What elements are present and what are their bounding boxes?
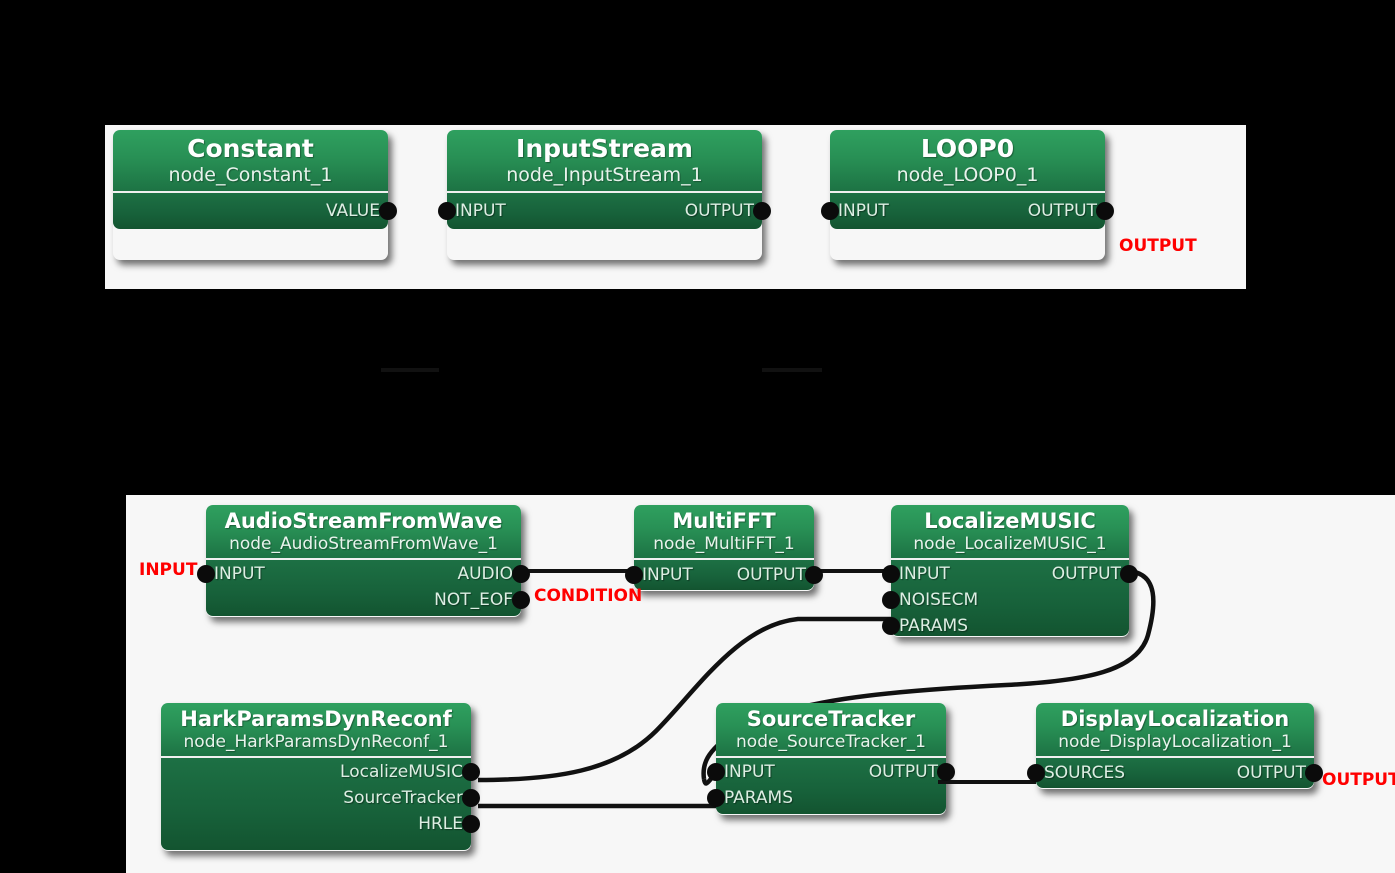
terminal-label-main-output[interactable]: OUTPUT (1119, 238, 1197, 255)
node-audiostreamfromwave[interactable]: AudioStreamFromWave node_AudioStreamFrom… (206, 505, 521, 617)
node-localizemusic-title: LocalizeMUSIC (900, 509, 1120, 534)
node-sourcetracker-header: SourceTracker node_SourceTracker_1 (716, 703, 946, 758)
node-inputstream-subtitle: node_InputStream_1 (456, 163, 753, 188)
node-constant-header: Constant node_Constant_1 (113, 130, 388, 193)
port-label-hpdr-localizemusic: LocalizeMUSIC (340, 759, 463, 785)
wire-sourcetracker-to-displaylocalization (938, 780, 1036, 784)
node-loop0-subtitle: node_LOOP0_1 (839, 163, 1096, 188)
node-loop0-header: LOOP0 node_LOOP0_1 (830, 130, 1105, 193)
port-row-displaylocalization-io: SOURCES OUTPUT (1036, 760, 1314, 786)
node-constant-subtitle: node_Constant_1 (122, 163, 379, 188)
node-sourcetracker[interactable]: SourceTracker node_SourceTracker_1 INPUT… (716, 703, 946, 815)
node-audiostreamfromwave-subtitle: node_AudioStreamFromWave_1 (215, 534, 512, 555)
port-row-asfw-input-audio: INPUT AUDIO (206, 561, 521, 587)
node-multifft-header: MultiFFT node_MultiFFT_1 (634, 505, 814, 560)
port-label-localizemusic-output: OUTPUT (1052, 561, 1121, 587)
network-editor-canvas: Constant node_Constant_1 VALUE InputStre… (0, 0, 1395, 873)
node-localizemusic-body: INPUT OUTPUT NOISECM PARAMS (891, 560, 1129, 636)
node-multifft-body: INPUT OUTPUT (634, 560, 814, 590)
node-displaylocalization[interactable]: DisplayLocalization node_DisplayLocaliza… (1036, 703, 1314, 789)
port-row-loop0-io: INPUT OUTPUT (830, 198, 1105, 224)
port-dot-asfw-audio[interactable] (512, 565, 530, 583)
node-harkparamsdynreconf-title: HarkParamsDynReconf (170, 707, 462, 732)
node-audiostreamfromwave-body: INPUT AUDIO NOT_EOF (206, 560, 521, 616)
node-harkparamsdynreconf-header: HarkParamsDynReconf node_HarkParamsDynRe… (161, 703, 471, 758)
port-dot-sourcetracker-input[interactable] (707, 763, 725, 781)
port-dot-hpdr-localizemusic[interactable] (462, 763, 480, 781)
port-dot-displaylocalization-sources[interactable] (1027, 764, 1045, 782)
node-audiostreamfromwave-header: AudioStreamFromWave node_AudioStreamFrom… (206, 505, 521, 560)
port-dot-localizemusic-params[interactable] (882, 617, 900, 635)
node-audiostreamfromwave-title: AudioStreamFromWave (215, 509, 512, 534)
port-dot-hpdr-hrle[interactable] (462, 815, 480, 833)
node-harkparamsdynreconf[interactable]: HarkParamsDynReconf node_HarkParamsDynRe… (161, 703, 471, 851)
port-label-sourcetracker-input: INPUT (724, 759, 775, 785)
port-row-constant-value: VALUE (113, 198, 388, 224)
port-dot-multifft-input[interactable] (625, 566, 643, 584)
port-row-localizemusic-params: PARAMS (891, 613, 1129, 639)
port-label-hpdr-sourcetracker: SourceTracker (343, 785, 463, 811)
port-label-displaylocalization-output: OUTPUT (1237, 760, 1306, 786)
node-displaylocalization-header: DisplayLocalization node_DisplayLocaliza… (1036, 703, 1314, 758)
node-localizemusic-subtitle: node_LocalizeMUSIC_1 (900, 534, 1120, 555)
port-dot-asfw-not-eof[interactable] (512, 591, 530, 609)
port-dot-multifft-output[interactable] (805, 566, 823, 584)
port-label-asfw-audio: AUDIO (457, 561, 513, 587)
main-network-panel[interactable]: Constant node_Constant_1 VALUE InputStre… (105, 125, 1246, 289)
node-displaylocalization-title: DisplayLocalization (1045, 707, 1305, 732)
port-dot-inputstream-input[interactable] (438, 202, 456, 220)
port-label-loop0-output: OUTPUT (1028, 198, 1097, 224)
port-dot-asfw-input[interactable] (197, 565, 215, 583)
node-sourcetracker-subtitle: node_SourceTracker_1 (725, 732, 937, 753)
port-dot-localizemusic-output[interactable] (1120, 565, 1138, 583)
loop0-network-panel[interactable]: AudioStreamFromWave node_AudioStreamFrom… (126, 495, 1395, 873)
port-dot-loop0-input[interactable] (821, 202, 839, 220)
node-sourcetracker-title: SourceTracker (725, 707, 937, 732)
wire-asfw-to-multifft (515, 569, 635, 573)
terminal-label-loop-input[interactable]: INPUT (139, 562, 197, 579)
port-label-inputstream-output: OUTPUT (685, 198, 754, 224)
port-label-asfw-not-eof: NOT_EOF (434, 587, 513, 613)
node-inputstream[interactable]: InputStream node_InputStream_1 INPUT OUT… (447, 130, 762, 260)
port-dot-constant-value[interactable] (379, 202, 397, 220)
port-label-displaylocalization-sources: SOURCES (1044, 760, 1125, 786)
port-dot-displaylocalization-output[interactable] (1305, 764, 1323, 782)
wire-constant-to-inputstream (381, 368, 439, 372)
node-constant[interactable]: Constant node_Constant_1 VALUE (113, 130, 388, 260)
port-label-multifft-input: INPUT (642, 562, 693, 588)
node-multifft-subtitle: node_MultiFFT_1 (643, 534, 805, 555)
port-label-localizemusic-noisecm: NOISECM (899, 587, 978, 613)
port-row-multifft-io: INPUT OUTPUT (634, 562, 814, 588)
terminal-label-loop-output[interactable]: OUTPUT (1322, 772, 1395, 789)
port-dot-hpdr-sourcetracker[interactable] (462, 789, 480, 807)
port-dot-sourcetracker-output[interactable] (937, 763, 955, 781)
node-harkparamsdynreconf-subtitle: node_HarkParamsDynReconf_1 (170, 732, 462, 753)
node-localizemusic[interactable]: LocalizeMUSIC node_LocalizeMUSIC_1 INPUT… (891, 505, 1129, 637)
port-dot-localizemusic-noisecm[interactable] (882, 591, 900, 609)
port-label-loop0-input: INPUT (838, 198, 889, 224)
node-inputstream-body: INPUT OUTPUT (447, 193, 762, 229)
terminal-label-loop-condition[interactable]: CONDITION (534, 588, 642, 605)
node-multifft[interactable]: MultiFFT node_MultiFFT_1 INPUT OUTPUT (634, 505, 814, 591)
port-row-sourcetracker-params: PARAMS (716, 785, 946, 811)
node-displaylocalization-body: SOURCES OUTPUT (1036, 758, 1314, 788)
port-dot-sourcetracker-params[interactable] (707, 789, 725, 807)
port-label-multifft-output: OUTPUT (737, 562, 806, 588)
node-sourcetracker-body: INPUT OUTPUT PARAMS (716, 758, 946, 814)
port-label-hpdr-hrle: HRLE (418, 811, 463, 837)
node-loop0-body: INPUT OUTPUT (830, 193, 1105, 229)
node-loop0-title: LOOP0 (839, 134, 1096, 163)
node-harkparamsdynreconf-body: LocalizeMUSIC SourceTracker HRLE (161, 758, 471, 850)
node-loop0[interactable]: LOOP0 node_LOOP0_1 INPUT OUTPUT (830, 130, 1105, 260)
node-multifft-title: MultiFFT (643, 509, 805, 534)
port-label-sourcetracker-params: PARAMS (724, 785, 793, 811)
wire-inputstream-to-loop0 (762, 368, 822, 372)
port-row-hpdr-localizemusic: LocalizeMUSIC (161, 759, 471, 785)
port-dot-inputstream-output[interactable] (753, 202, 771, 220)
node-localizemusic-header: LocalizeMUSIC node_LocalizeMUSIC_1 (891, 505, 1129, 560)
node-constant-body: VALUE (113, 193, 388, 229)
port-row-asfw-not-eof: NOT_EOF (206, 587, 521, 613)
node-displaylocalization-subtitle: node_DisplayLocalization_1 (1045, 732, 1305, 753)
port-row-inputstream-io: INPUT OUTPUT (447, 198, 762, 224)
node-inputstream-title: InputStream (456, 134, 753, 163)
port-label-localizemusic-input: INPUT (899, 561, 950, 587)
port-row-hpdr-hrle: HRLE (161, 811, 471, 837)
port-label-asfw-input: INPUT (214, 561, 265, 587)
port-label-localizemusic-params: PARAMS (899, 613, 968, 639)
port-row-sourcetracker-input-output: INPUT OUTPUT (716, 759, 946, 785)
port-row-hpdr-sourcetracker: SourceTracker (161, 785, 471, 811)
port-row-localizemusic-input-output: INPUT OUTPUT (891, 561, 1129, 587)
port-label-sourcetracker-output: OUTPUT (869, 759, 938, 785)
port-dot-loop0-output[interactable] (1096, 202, 1114, 220)
port-label-constant-value: VALUE (326, 198, 380, 224)
node-inputstream-header: InputStream node_InputStream_1 (447, 130, 762, 193)
port-row-localizemusic-noisecm: NOISECM (891, 587, 1129, 613)
node-constant-title: Constant (122, 134, 379, 163)
port-dot-localizemusic-input[interactable] (882, 565, 900, 583)
port-label-inputstream-input: INPUT (455, 198, 506, 224)
